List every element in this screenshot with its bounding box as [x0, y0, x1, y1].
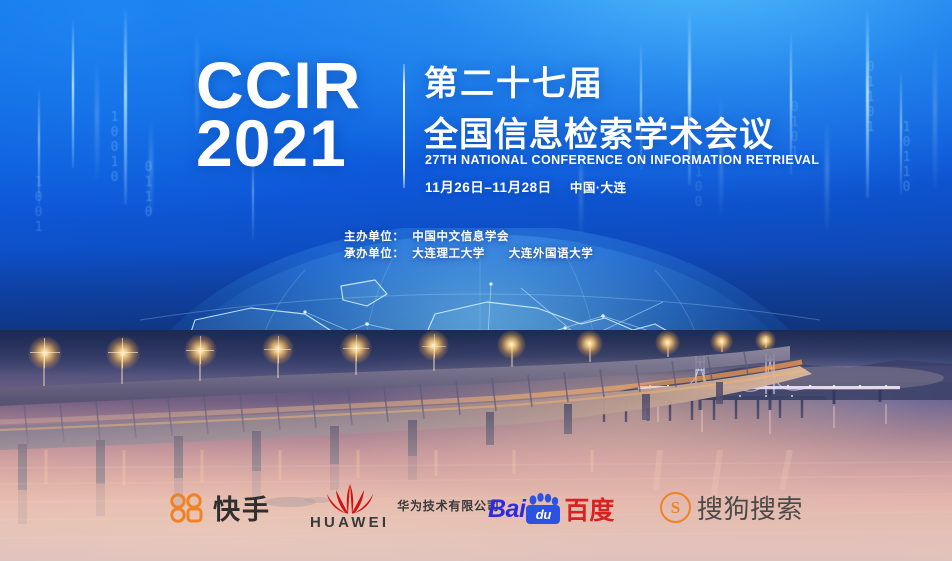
title-block: CCIR 2021 第二十七届 全国信息检索学术会议 27TH NATIONAL… — [0, 0, 952, 300]
edition-label: 第二十七届 — [424, 64, 604, 104]
sponsor-name-sogou: 搜狗搜索 — [697, 489, 803, 526]
sponsor-name-baidu-en: Bai — [488, 495, 525, 524]
sponsor-name-huawei-cn: 华为技术有限公司 — [397, 497, 499, 514]
organizer-name-secondary: 大连外国语大学 — [509, 248, 594, 260]
sponsor-name-baidu-cn: 百度 — [564, 491, 614, 527]
sponsor-logo-kuaishou[interactable]: 快手 — [168, 488, 271, 527]
sponsor-name-huawei-en: HUAWEI — [310, 514, 389, 531]
conference-title-cn: 全国信息检索学术会议 — [424, 115, 774, 155]
kuaishou-icon — [168, 493, 204, 523]
organizer-row: 主办单位： 中国中文信息学会 — [344, 229, 593, 246]
date-location-line: 11月26日–11月28日 中国·大连 — [425, 176, 627, 196]
organizer-name: 中国中文信息学会 — [412, 231, 509, 243]
organizer-role: 主办单位： — [344, 231, 405, 243]
conference-title-en: 27TH NATIONAL CONFERENCE ON INFORMATION … — [425, 153, 819, 167]
title-divider — [403, 64, 405, 188]
sogou-s-letter: S — [671, 498, 680, 518]
sponsor-name-kuaishou: 快手 — [213, 488, 271, 527]
sogou-s-icon: S — [660, 492, 691, 523]
sponsor-logo-sogou[interactable]: S 搜狗搜索 — [660, 489, 803, 526]
huawei-mark-group: HUAWEI — [310, 482, 389, 531]
organizer-name: 大连理工大学 — [412, 248, 485, 260]
conference-poster: 10010 0110 1001 01101 10110 0101 1100 — [0, 0, 952, 561]
baidu-paw-icon: du — [526, 494, 560, 524]
conference-dates: 11月26日–11月28日 — [425, 180, 552, 195]
sponsor-logo-baidu[interactable]: Bai du 百度 — [488, 491, 614, 527]
conference-acronym-lockup: CCIR 2021 — [196, 56, 361, 172]
organizer-role: 承办单位： — [344, 248, 405, 260]
sponsor-logo-huawei[interactable]: HUAWEI 华为技术有限公司 — [310, 482, 500, 531]
organizer-row: 承办单位： 大连理工大学 大连外国语大学 — [344, 246, 593, 263]
sponsor-logo-row: 快手 HUAWEI 华为技术有限公司 Bai — [0, 482, 952, 534]
sponsor-name-baidu-sub: du — [526, 505, 560, 524]
huawei-flower-icon — [324, 482, 376, 514]
conference-location: 中国·大连 — [570, 181, 627, 195]
organizer-block: 主办单位： 中国中文信息学会 承办单位： 大连理工大学 大连外国语大学 — [344, 229, 593, 263]
year-text: 2021 — [196, 114, 361, 172]
